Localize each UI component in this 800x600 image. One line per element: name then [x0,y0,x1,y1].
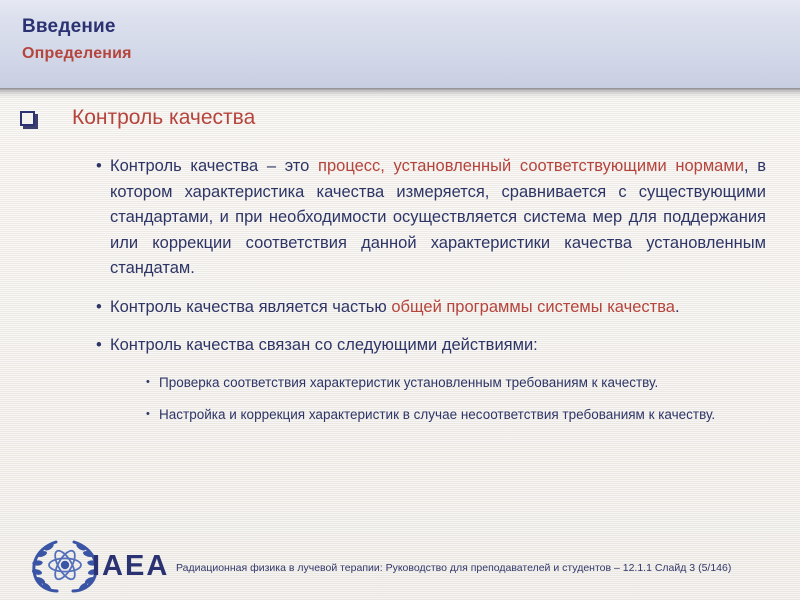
bullet-marker-icon: • [96,154,102,180]
bullet-item: • Контроль качества – это процесс, устан… [96,154,766,282]
sub-bullet-text: Проверка соответствия характеристик уста… [159,375,658,390]
iaea-wordmark: IAEA [92,550,169,583]
square-bullet-icon [20,111,35,126]
bullet-marker-icon: • [96,295,102,321]
header-divider [0,88,800,102]
sub-bullet-marker-icon: • [146,372,150,393]
bullet-item: • Контроль качества связан со следующими… [96,333,766,359]
sub-bullet-item: • Настройка и коррекция характеристик в … [146,404,766,425]
slide-content: Контроль качества • Контроль качества – … [0,104,800,425]
slide: Введение Определения Контроль качества •… [0,0,800,600]
content-heading-row: Контроль качества [0,104,800,138]
slide-subtitle: Определения [22,45,132,63]
slide-footer: IAEA Радиационная физика в лучевой терап… [0,532,800,600]
sub-bullet-list: • Проверка соответствия характеристик ус… [0,372,800,425]
sub-bullet-marker-icon: • [146,404,150,425]
bullet-text: Контроль качества является частью общей … [110,298,680,316]
slide-title: Введение [22,16,116,38]
footer-caption: Радиационная физика в лучевой терапии: Р… [176,562,731,574]
bullet-list: • Контроль качества – это процесс, устан… [0,154,800,425]
sub-bullet-item: • Проверка соответствия характеристик ус… [146,372,766,393]
content-heading: Контроль качества [72,106,255,129]
bullet-text: Контроль качества – это процесс, установ… [110,157,766,277]
bullet-item: • Контроль качества является частью обще… [96,295,766,321]
slide-header: Введение Определения [0,0,800,88]
sub-bullet-text: Настройка и коррекция характеристик в сл… [159,407,715,422]
bullet-marker-icon: • [96,333,102,359]
bullet-text: Контроль качества связан со следующими д… [110,336,538,354]
